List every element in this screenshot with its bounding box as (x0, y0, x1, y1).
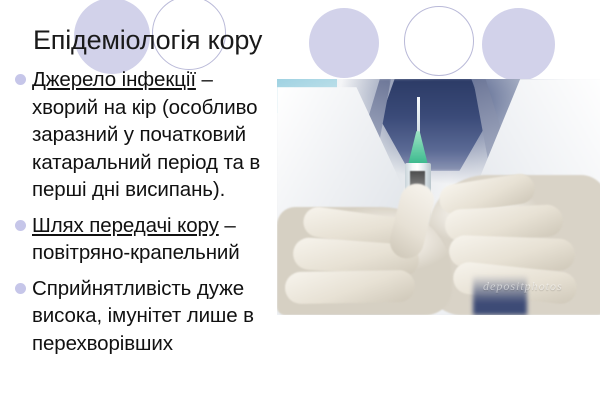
list-item: Сприйнятливість дуже висока, імунітет ли… (8, 275, 284, 358)
bullet-heading-2: Шлях передачі кору (32, 214, 219, 237)
bullet-body-3: Сприйнятливість дуже висока, імунітет ли… (32, 277, 254, 355)
bullet-dot-icon (15, 74, 26, 85)
bullet-dot-icon (15, 283, 26, 294)
slide-canvas: Епідеміологія кору depositphotos Джерело… (0, 0, 600, 414)
syringe-photo: depositphotos (277, 79, 600, 315)
bullet-heading-1: Джерело інфекції (32, 68, 196, 91)
bullet-text-1: Джерело інфекції – хворий на кір (особли… (32, 66, 284, 204)
bullet-text-3: Сприйнятливість дуже висока, імунітет ли… (32, 275, 284, 358)
bullet-text-2: Шлях передачі кору – повітряно-крапельни… (32, 212, 284, 267)
photo-watermark: depositphotos (483, 279, 563, 294)
bullet-dot-icon (15, 220, 26, 231)
decorative-circle-filled-3 (482, 8, 555, 81)
decorative-circle-outline-2 (404, 6, 474, 76)
bullet-list: Джерело інфекції – хворий на кір (особли… (8, 66, 284, 360)
photo-finger-left-3 (285, 270, 416, 304)
list-item: Джерело інфекції – хворий на кір (особли… (8, 66, 284, 204)
decorative-circle-filled-2 (309, 8, 379, 78)
list-item: Шлях передачі кору – повітряно-крапельни… (8, 212, 284, 267)
slide-title: Епідеміологія кору (33, 24, 262, 57)
